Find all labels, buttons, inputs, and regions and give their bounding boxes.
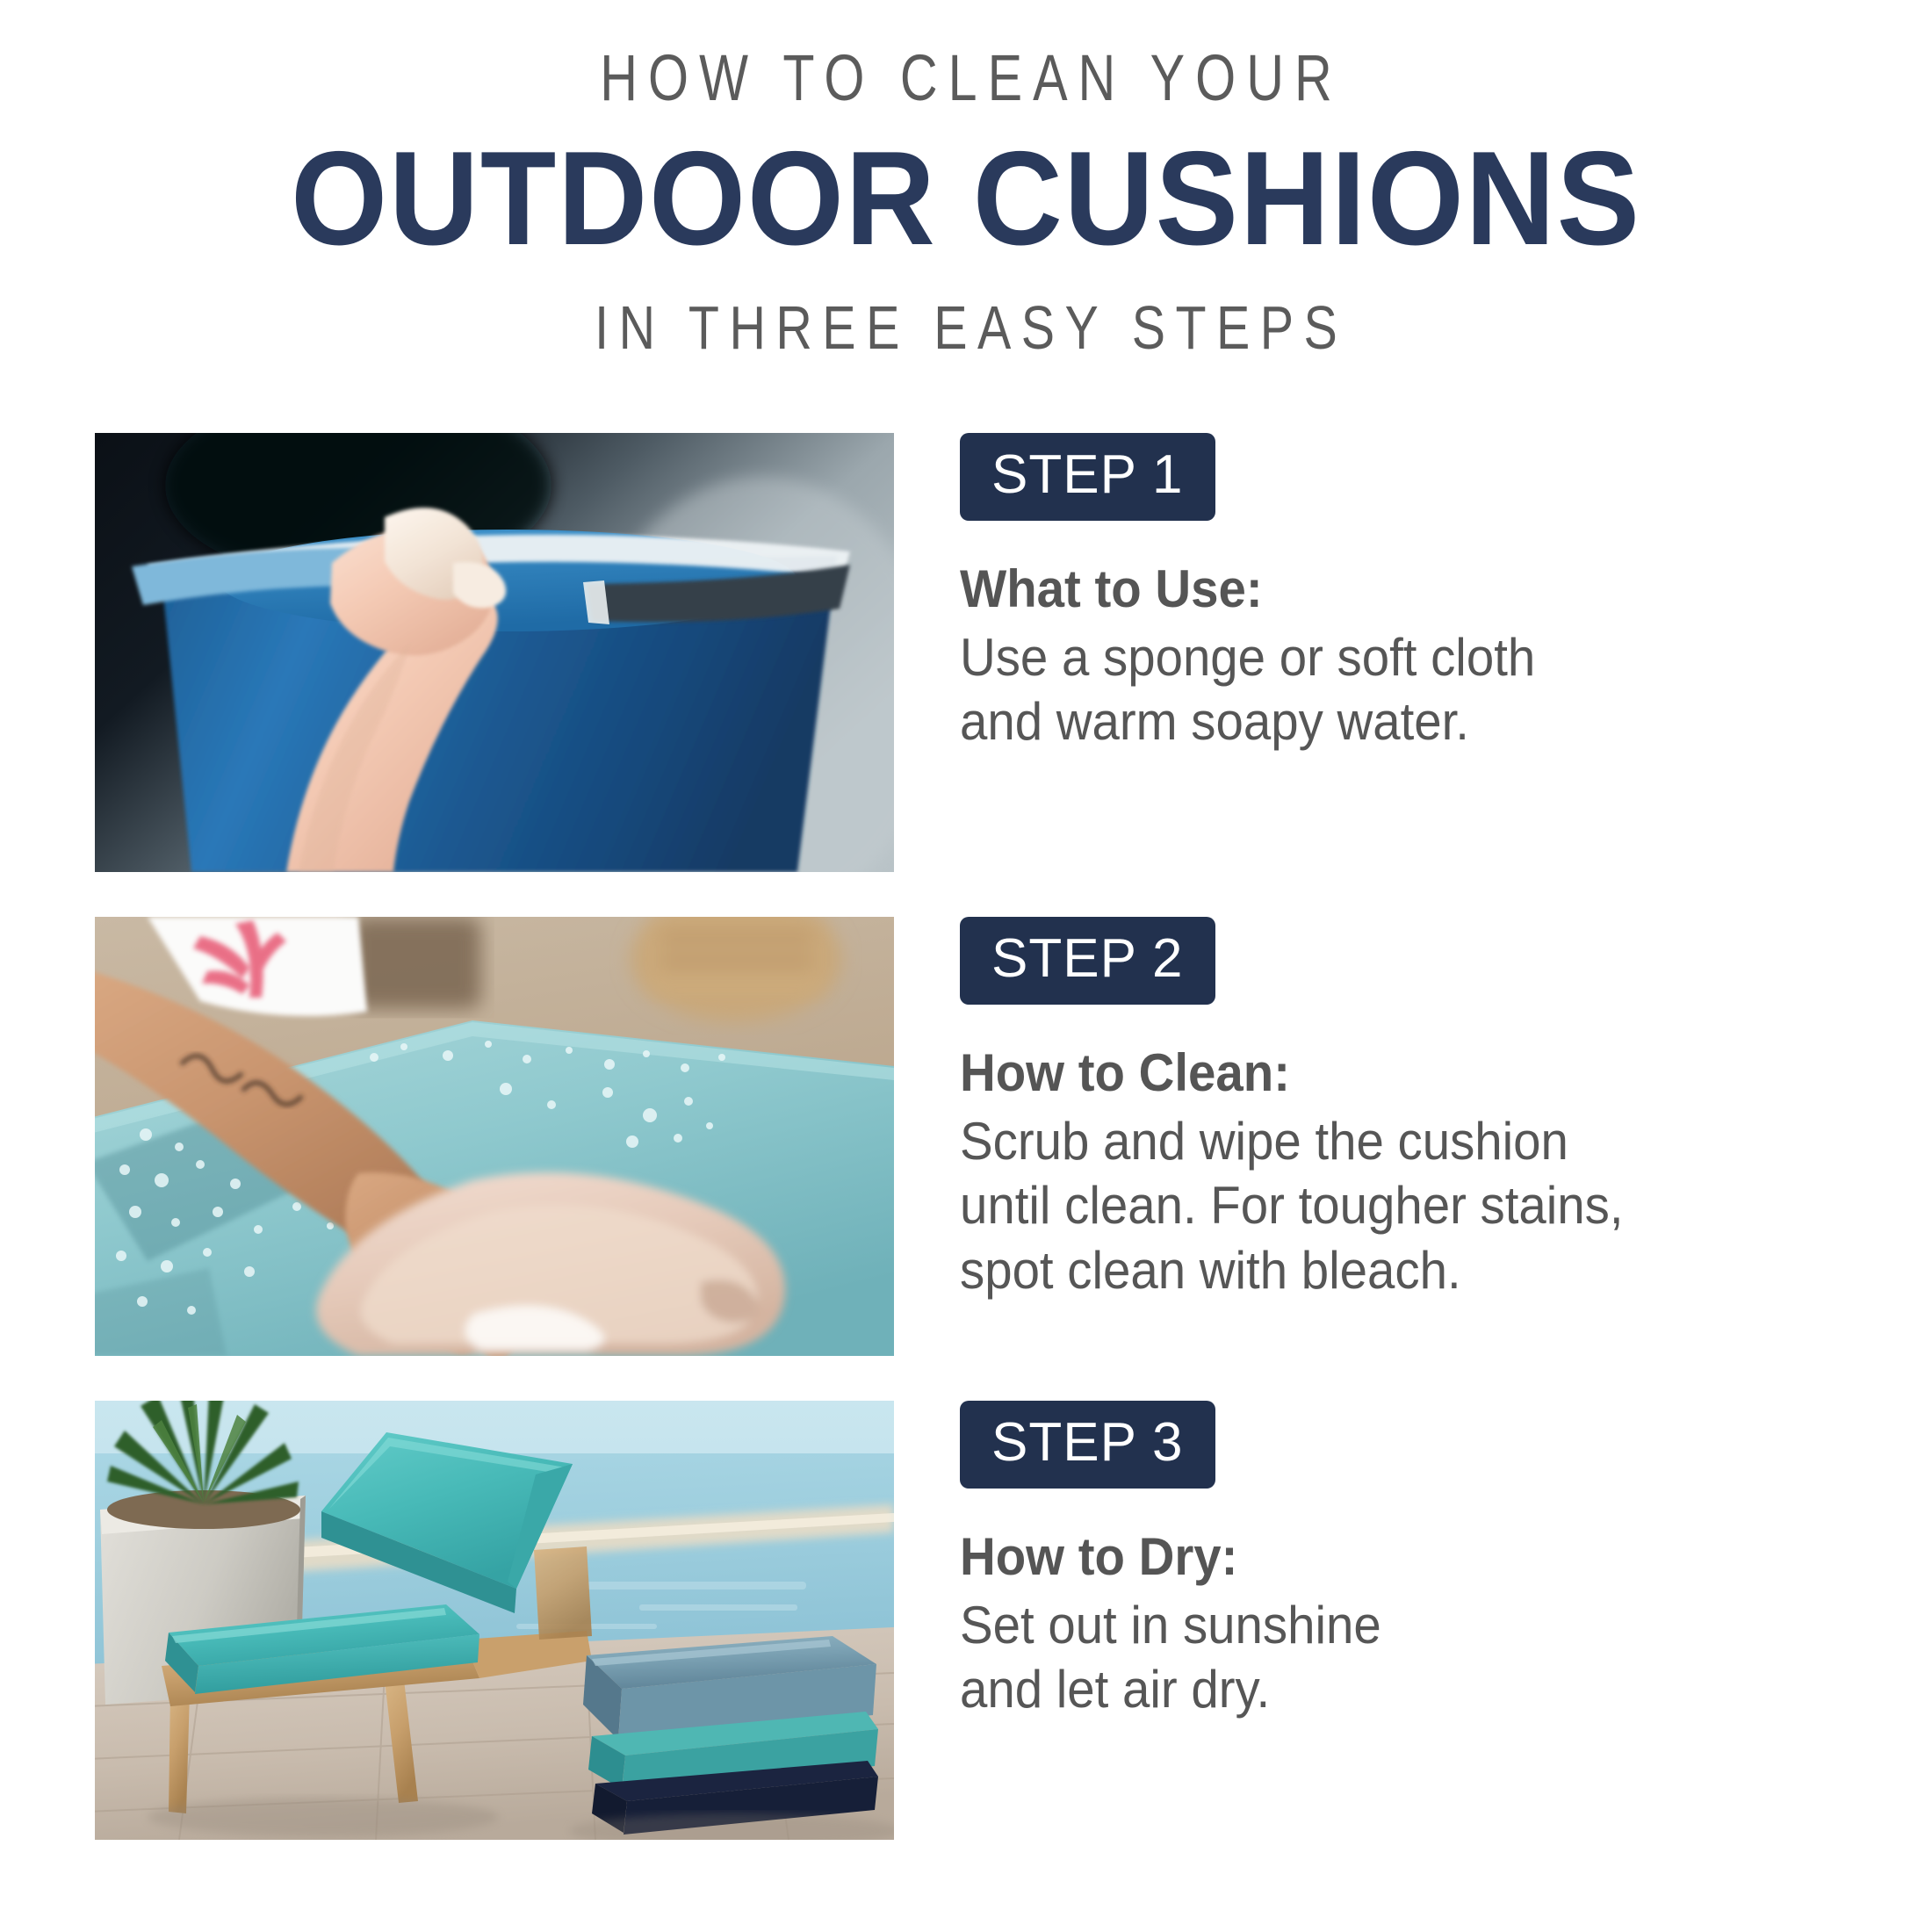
step-1-photo bbox=[95, 433, 894, 872]
step-2-body: Scrub and wipe the cushion until clean. … bbox=[960, 1102, 1785, 1302]
step-2-heading: How to Clean: bbox=[960, 1005, 1785, 1102]
header-subtitle: IN THREE EASY STEPS bbox=[174, 265, 1758, 358]
step-1-text-block: STEP 1 What to Use: Use a sponge or soft… bbox=[960, 433, 1838, 754]
step-row: STEP 2 How to Clean: Scrub and wipe the … bbox=[0, 917, 1932, 1356]
step-row: STEP 3 How to Dry: Set out in sunshine a… bbox=[0, 1401, 1932, 1840]
step-2-photo bbox=[95, 917, 894, 1356]
step-3-photo bbox=[95, 1401, 894, 1840]
wiping-cushion-photo-illustration bbox=[95, 917, 894, 1356]
step-3-badge: STEP 3 bbox=[960, 1401, 1215, 1489]
step-3-text-block: STEP 3 How to Dry: Set out in sunshine a… bbox=[960, 1401, 1838, 1722]
step-1-badge: STEP 1 bbox=[960, 433, 1215, 521]
page-title: OUTDOOR CUSHIONS bbox=[68, 111, 1864, 265]
step-row: STEP 1 What to Use: Use a sponge or soft… bbox=[0, 433, 1932, 872]
steps-list: STEP 1 What to Use: Use a sponge or soft… bbox=[0, 433, 1932, 1840]
chaise-lounge-photo-illustration bbox=[95, 1401, 894, 1840]
page-header: HOW TO CLEAN YOUR OUTDOOR CUSHIONS IN TH… bbox=[0, 0, 1932, 358]
infographic-page: HOW TO CLEAN YOUR OUTDOOR CUSHIONS IN TH… bbox=[0, 0, 1932, 1932]
step-1-heading: What to Use: bbox=[960, 521, 1785, 618]
header-eyebrow: HOW TO CLEAN YOUR bbox=[193, 0, 1739, 111]
step-2-text-block: STEP 2 How to Clean: Scrub and wipe the … bbox=[960, 917, 1838, 1302]
step-3-heading: How to Dry: bbox=[960, 1489, 1785, 1586]
step-1-body: Use a sponge or soft cloth and warm soap… bbox=[960, 618, 1785, 753]
step-2-badge: STEP 2 bbox=[960, 917, 1215, 1005]
step-3-body: Set out in sunshine and let air dry. bbox=[960, 1586, 1785, 1721]
bucket-photo-illustration bbox=[95, 433, 894, 872]
